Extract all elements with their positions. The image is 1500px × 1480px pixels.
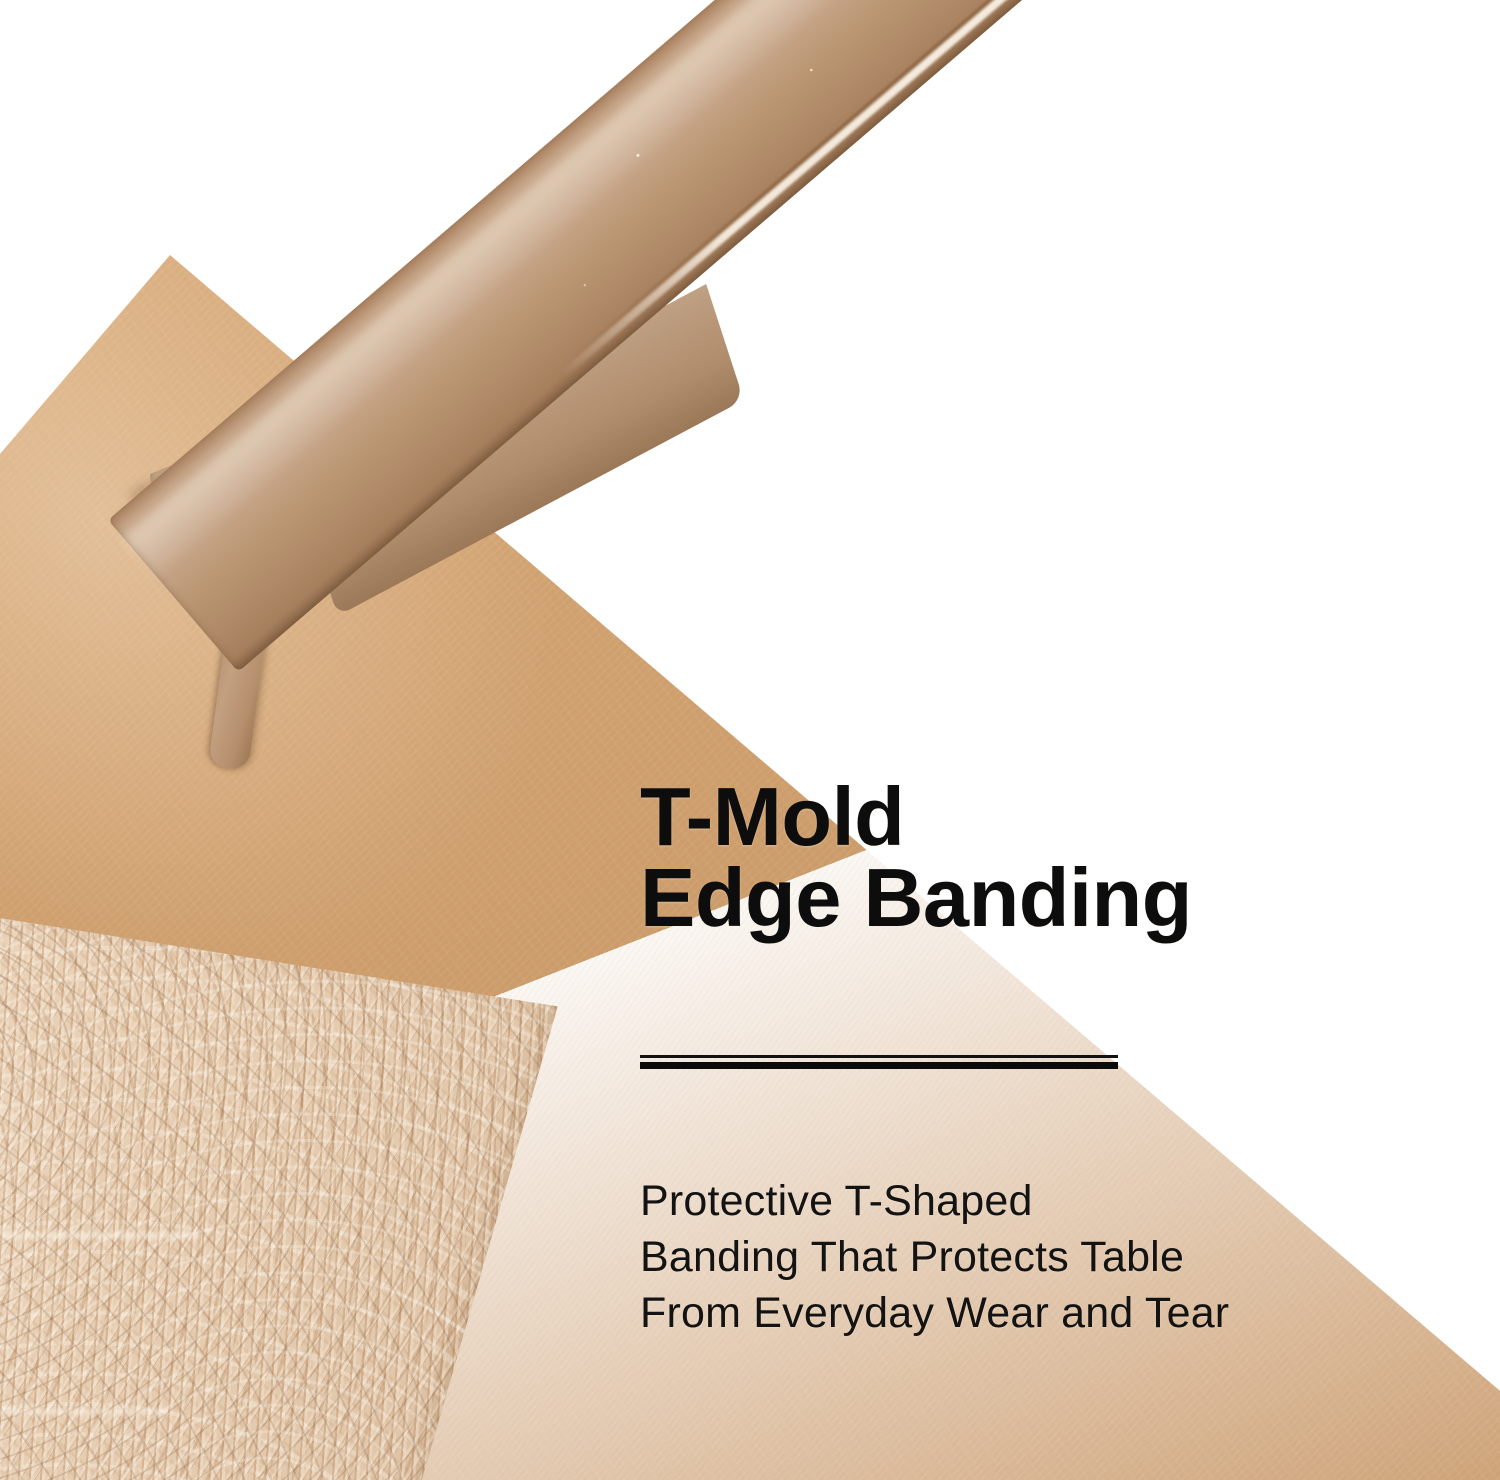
t-mold-banding-strip — [108, 0, 1423, 672]
divider-thin-line — [640, 1055, 1118, 1058]
divider-thick-line — [640, 1062, 1118, 1069]
particleboard-core — [0, 850, 558, 1480]
product-feature-image: T-Mold Edge Banding Protective T-Shaped … — [0, 0, 1500, 1480]
core-reflection-strip-upper — [0, 1232, 200, 1239]
description-text: Protective T-Shaped Banding That Protect… — [640, 1174, 1430, 1342]
page-title: T-Mold Edge Banding — [640, 776, 1400, 939]
double-rule-divider — [640, 1055, 1118, 1066]
headline-block: T-Mold Edge Banding — [640, 776, 1400, 939]
core-reflection-strip-lower — [0, 1408, 168, 1415]
